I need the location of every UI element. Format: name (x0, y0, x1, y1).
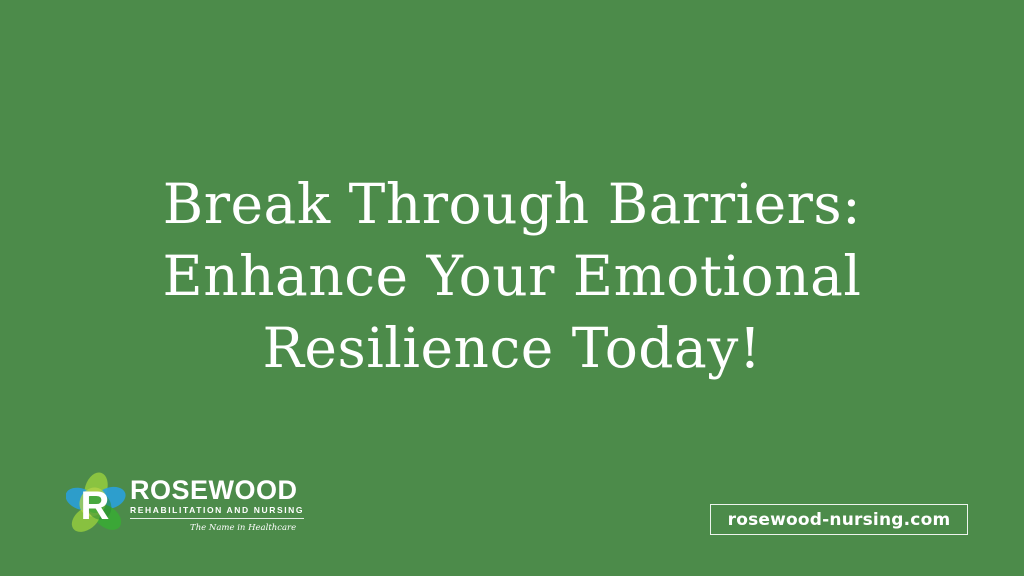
headline-line-2: Enhance Your Emotional (0, 240, 1024, 312)
svg-text:R: R (81, 484, 110, 528)
brand-name: ROSEWOOD (130, 476, 298, 504)
page-title: Break Through Barriers: Enhance Your Emo… (0, 168, 1024, 384)
slide-canvas: Break Through Barriers: Enhance Your Emo… (0, 0, 1024, 576)
rosewood-pinwheel-logo-icon: R (66, 472, 126, 538)
brand-logo-lockup[interactable]: R ROSEWOOD REHABILITATION AND NURSING Th… (66, 472, 304, 538)
website-url-badge[interactable]: rosewood-nursing.com (710, 504, 968, 535)
headline-line-1: Break Through Barriers: (0, 168, 1024, 240)
website-url-text: rosewood-nursing.com (728, 510, 951, 530)
headline-line-3: Resilience Today! (0, 312, 1024, 384)
brand-tagline: The Name in Healthcare (190, 522, 304, 534)
brand-subtitle: REHABILITATION AND NURSING (130, 505, 304, 519)
brand-wordmark-group: ROSEWOOD REHABILITATION AND NURSING The … (130, 476, 304, 534)
